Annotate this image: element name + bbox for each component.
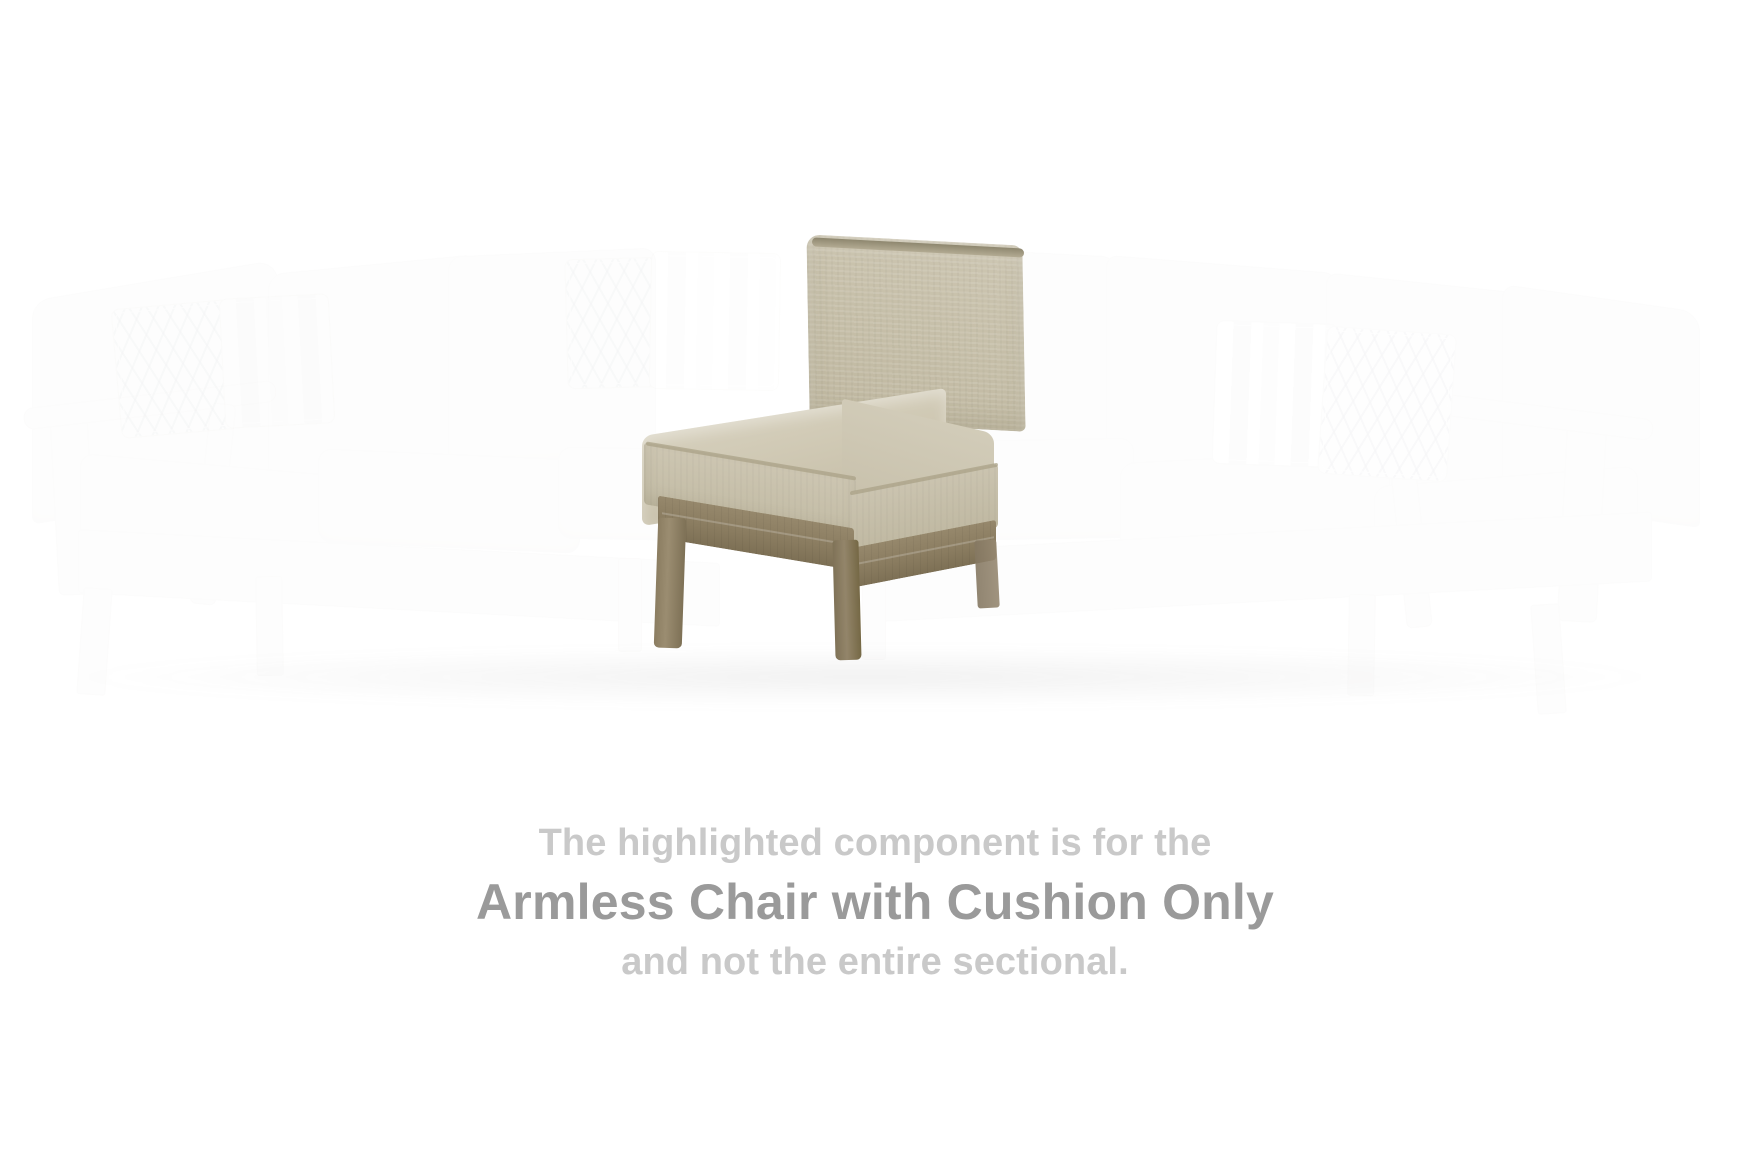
caption-block: The highlighted component is for the Arm… xyxy=(0,820,1750,986)
caption-intro-line: The highlighted component is for the xyxy=(0,820,1750,868)
product-image-stage xyxy=(0,0,1750,810)
striped-pillow-icon xyxy=(219,293,336,429)
left-seat-cushion-2 xyxy=(318,448,580,553)
pillow-welt xyxy=(223,297,331,424)
caption-disclaimer-line: and not the entire sectional. xyxy=(0,939,1750,987)
chair-wood-leg-front xyxy=(654,518,687,649)
chair-wood-leg-right xyxy=(832,540,861,661)
pillow-welt xyxy=(115,303,235,434)
lattice-pillow-icon xyxy=(1317,326,1457,483)
left-leg-mid xyxy=(255,576,284,676)
highlighted-armless-chair xyxy=(636,240,1026,640)
pillow-welt xyxy=(1321,330,1452,478)
right-leg-mid xyxy=(1347,594,1376,696)
left-leg-front xyxy=(76,587,112,696)
caption-component-name: Armless Chair with Cushion Only xyxy=(0,872,1750,933)
pillow-welt xyxy=(1216,324,1335,464)
chair-wood-leg-back xyxy=(974,539,1000,608)
